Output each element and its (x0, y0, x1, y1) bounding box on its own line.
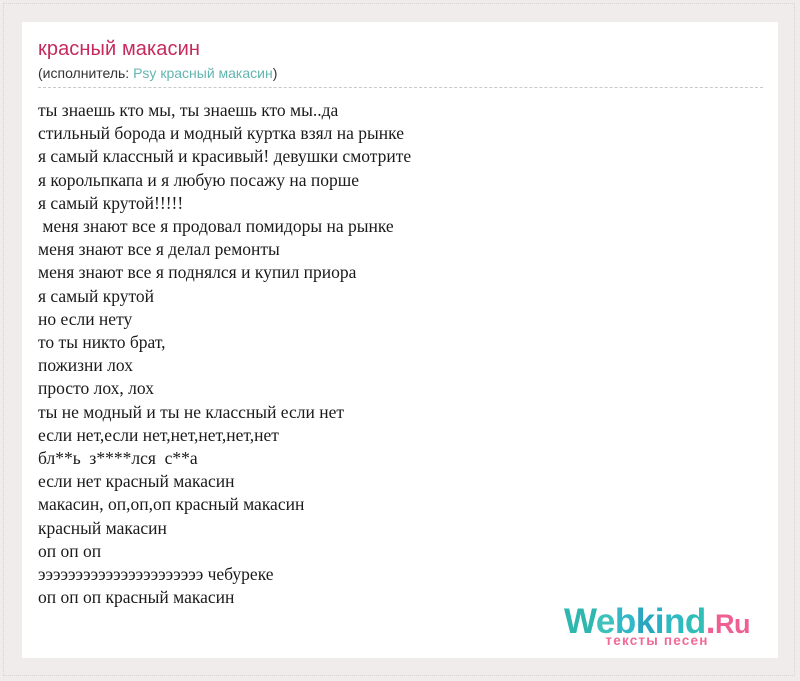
page-title: красный макасин (38, 36, 778, 62)
lyric-line: меня знают все я продовал помидоры на ры… (38, 215, 778, 238)
lyric-line: но если нету (38, 308, 778, 331)
lyric-line: ты не модный и ты не классный если нет (38, 401, 778, 424)
lyric-line: если нет,если нет,нет,нет,нет,нет (38, 424, 778, 447)
logo-letter: W (564, 602, 596, 641)
lyrics-card: красный макасин (исполнитель: Psy красны… (22, 22, 778, 658)
lyric-line: стильный борода и модный куртка взял на … (38, 122, 778, 145)
lyric-line: меня знают все я поднялся и купил приора (38, 261, 778, 284)
lyric-line: то ты никто брат, (38, 331, 778, 354)
lyric-line: макасин, оп,оп,оп красный макасин (38, 493, 778, 516)
lyric-line: оп оп оп (38, 540, 778, 563)
lyric-line: ээээээээээээээээээээээ чебуреке (38, 563, 778, 586)
artist-line: (исполнитель: Psy красный макасин) (38, 64, 778, 87)
site-logo[interactable]: Webkind.Ru тексты песен (552, 604, 762, 648)
lyric-line: пожизни лох (38, 354, 778, 377)
logo-tld: Ru (715, 609, 750, 639)
lyric-line: я самый крутой (38, 285, 778, 308)
artist-prefix-label: (исполнитель: (38, 65, 133, 81)
lyric-line: я корольпкапа и я любую посажу на порше (38, 169, 778, 192)
lyric-line: просто лох, лох (38, 377, 778, 400)
artist-suffix-label: ) (273, 65, 278, 81)
lyric-line: красный макасин (38, 517, 778, 540)
artist-link[interactable]: Psy красный макасин (133, 65, 273, 81)
lyric-line: я самый классный и красивый! девушки смо… (38, 145, 778, 168)
lyric-line: бл**ь з****лся с**а (38, 447, 778, 470)
lyric-line: ты знаешь кто мы, ты знаешь кто мы..да (38, 99, 778, 122)
lyric-line: я самый крутой!!!!! (38, 192, 778, 215)
lyric-line: если нет красный макасин (38, 470, 778, 493)
lyric-line: меня знают все я делал ремонты (38, 238, 778, 261)
song-header: красный макасин (исполнитель: Psy красны… (22, 22, 778, 87)
lyrics-body: ты знаешь кто мы, ты знаешь кто мы..даст… (22, 88, 778, 609)
